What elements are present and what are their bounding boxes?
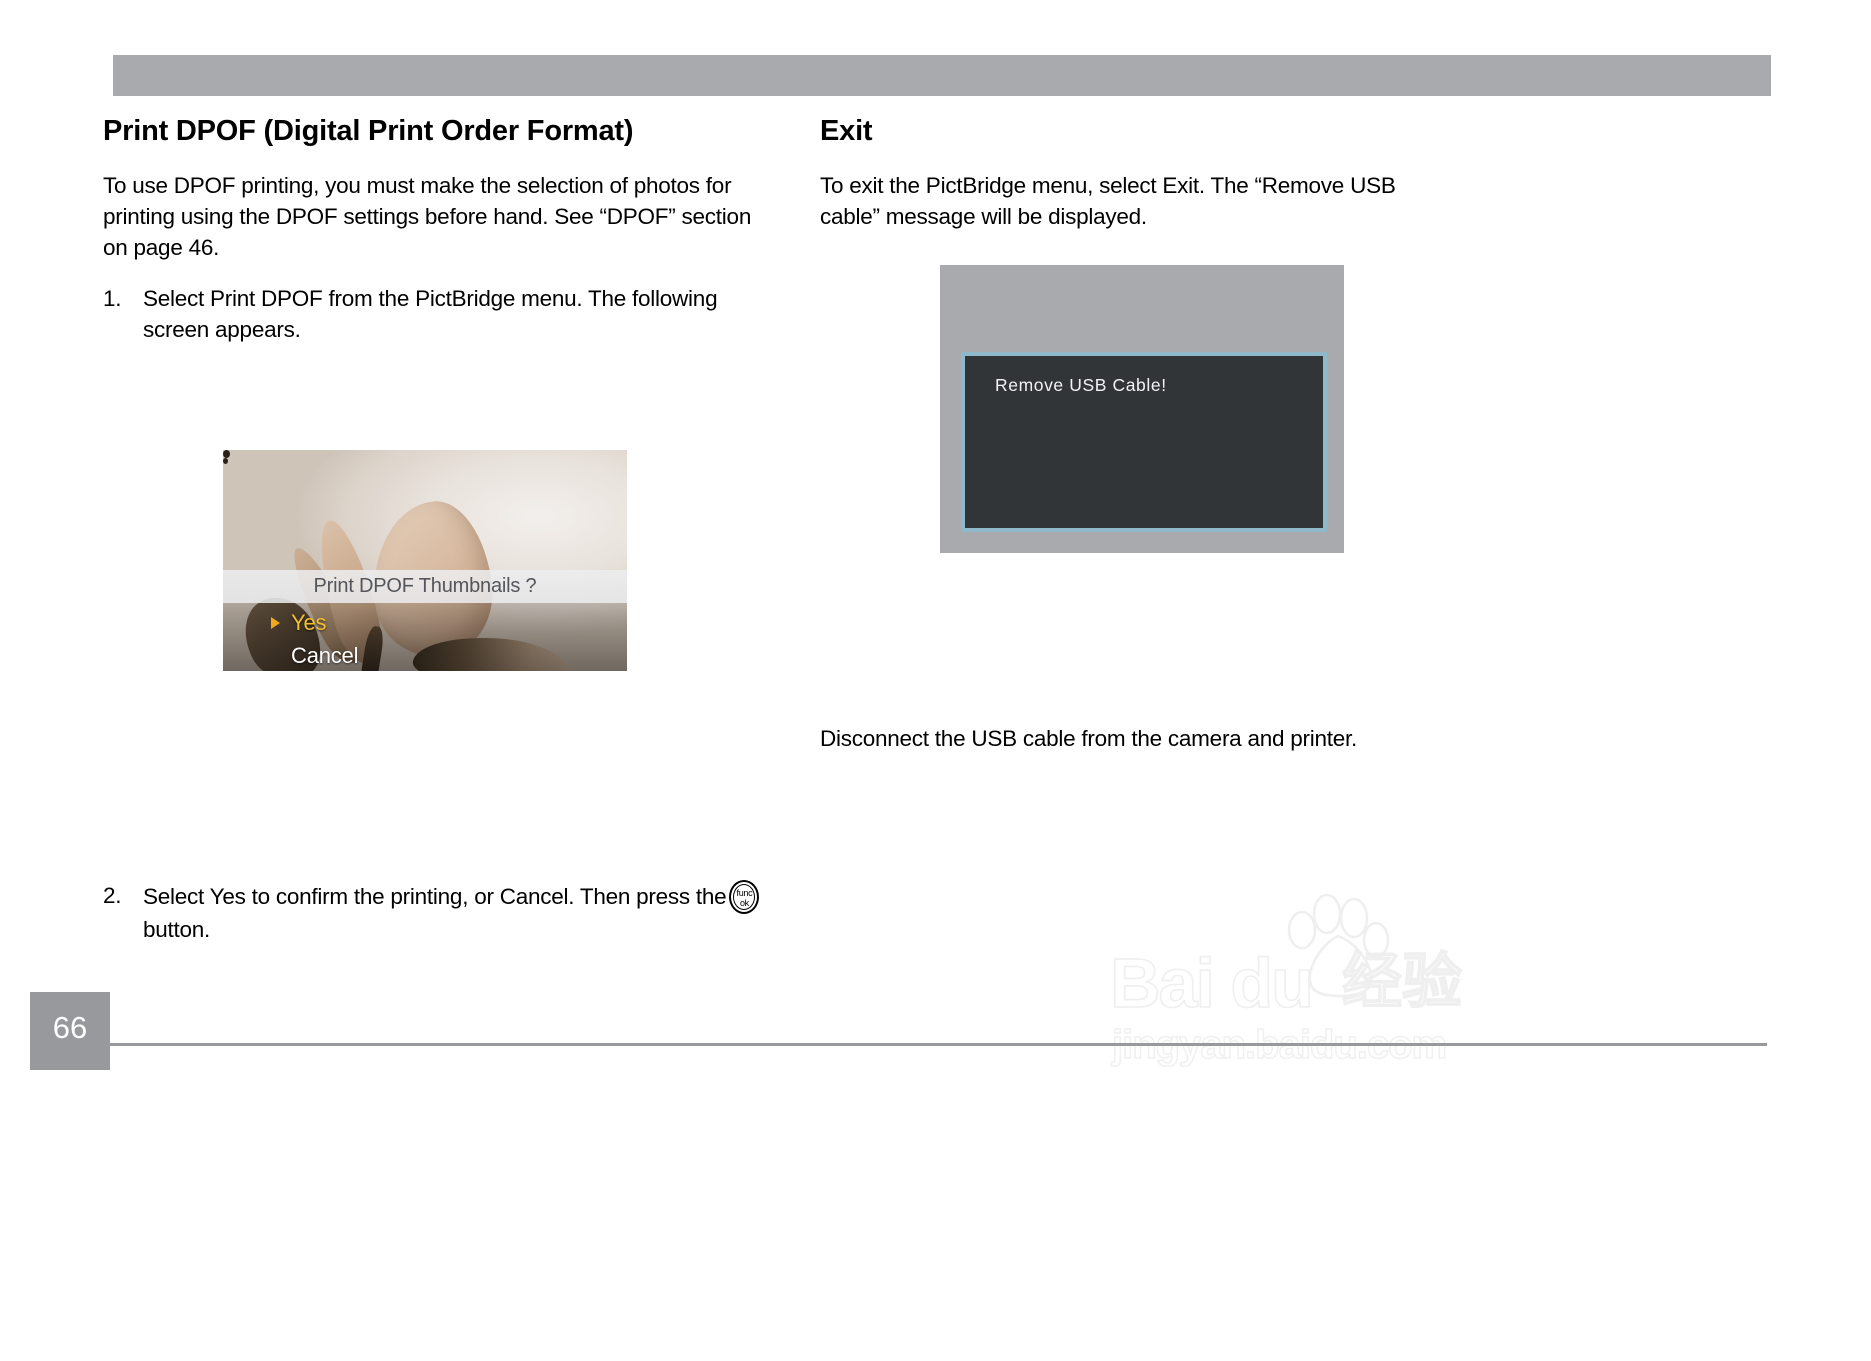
photo-speck-lower bbox=[223, 458, 228, 464]
step-1-text: Select Print DPOF from the PictBridge me… bbox=[143, 283, 763, 345]
baidu-chinese-text: 经验 bbox=[1342, 952, 1462, 1012]
step-2: 2. Select Yes to confirm the printing, o… bbox=[103, 880, 763, 945]
dpof-option-cancel-label: Cancel bbox=[291, 643, 358, 668]
remove-usb-message-text: Remove USB Cable! bbox=[995, 375, 1167, 396]
selection-arrow-icon bbox=[271, 617, 280, 629]
remove-usb-screen: Remove USB Cable! bbox=[940, 265, 1344, 553]
dpof-question-bar: Print DPOF Thumbnails ? bbox=[223, 570, 627, 603]
page-header-bar bbox=[113, 55, 1771, 96]
remove-usb-message-panel: Remove USB Cable! bbox=[961, 352, 1327, 532]
exit-intro-paragraph: To exit the PictBridge menu, select Exit… bbox=[820, 170, 1460, 232]
page-title-print-dpof: Print DPOF (Digital Print Order Format) bbox=[103, 115, 763, 148]
dpof-option-cancel[interactable]: Cancel bbox=[269, 639, 358, 671]
page-number: 66 bbox=[30, 1010, 110, 1046]
right-column: Exit To exit the PictBridge menu, select… bbox=[820, 115, 1460, 252]
dpof-confirm-screen: Print DPOF Thumbnails ? Yes Cancel bbox=[223, 450, 627, 671]
func-ok-icon-top-label: func bbox=[731, 889, 757, 898]
func-ok-button-icon: funcok bbox=[729, 880, 759, 914]
step-1: 1. Select Print DPOF from the PictBridge… bbox=[103, 283, 763, 345]
baidu-paw-icon bbox=[1272, 892, 1392, 1002]
step-2-text-after: button. bbox=[143, 917, 210, 942]
step-2-text-before: Select Yes to confirm the printing, or C… bbox=[143, 884, 726, 909]
disconnect-instruction: Disconnect the USB cable from the camera… bbox=[820, 723, 1460, 754]
photo-speck-upper bbox=[223, 450, 230, 458]
step-2-number: 2. bbox=[103, 880, 143, 945]
step-2-text: Select Yes to confirm the printing, or C… bbox=[143, 880, 763, 945]
dpof-option-yes-label: Yes bbox=[291, 610, 326, 635]
dpof-option-list: Yes Cancel bbox=[269, 606, 358, 671]
dpof-question-text: Print DPOF Thumbnails ? bbox=[314, 575, 537, 598]
print-dpof-intro-paragraph: To use DPOF printing, you must make the … bbox=[103, 170, 763, 263]
func-ok-icon-bottom-label: ok bbox=[731, 899, 757, 908]
page-number-box: 66 bbox=[30, 992, 110, 1070]
baidu-watermark: Bai du 经验 jingyan.baidu.com bbox=[1110, 900, 1510, 1090]
baidu-wordmark: Bai du bbox=[1110, 948, 1312, 1018]
page-title-exit: Exit bbox=[820, 115, 1460, 148]
dpof-option-yes[interactable]: Yes bbox=[269, 606, 358, 639]
left-column: Print DPOF (Digital Print Order Format) … bbox=[103, 115, 763, 355]
footer-rule bbox=[110, 1043, 1767, 1046]
step-1-number: 1. bbox=[103, 283, 143, 345]
